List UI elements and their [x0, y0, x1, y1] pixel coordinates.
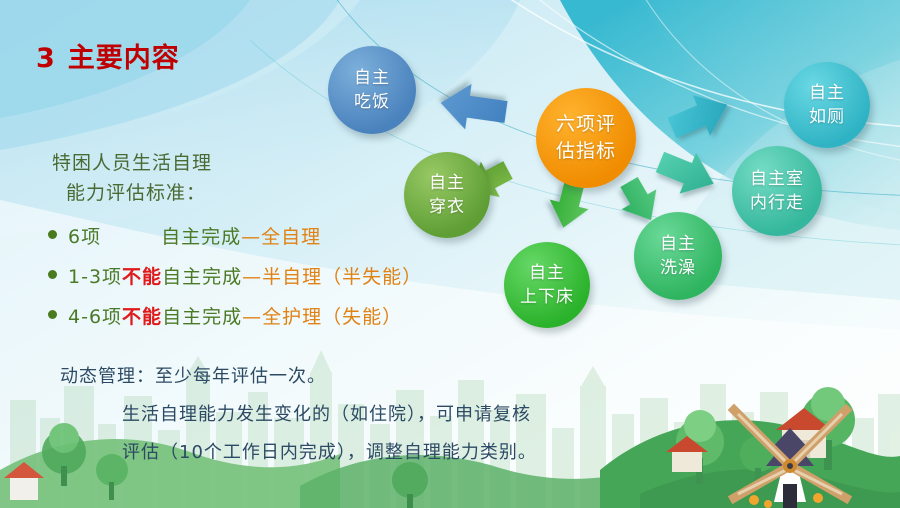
- arrow-to-walking-icon: [652, 142, 722, 205]
- node-bathing[interactable]: 自主 洗澡: [634, 212, 722, 300]
- node-toilet-line-1: 自主: [809, 81, 845, 105]
- node-dressing[interactable]: 自主 穿衣: [404, 152, 490, 238]
- arrow-to-toilet-icon: [663, 84, 735, 148]
- node-bed-line-2: 上下床: [520, 285, 574, 309]
- node-walking[interactable]: 自主室 内行走: [732, 146, 822, 236]
- arrow-to-bed-icon: [544, 180, 593, 232]
- slide-canvas: 3主要内容 特困人员生活自理 能力评估标准： 6项 自主完成 —全自理 1-3项…: [0, 0, 900, 508]
- center-line-2: 估指标: [556, 138, 616, 165]
- node-toilet-line-2: 如厕: [809, 105, 845, 129]
- node-bathing-line-2: 洗澡: [660, 256, 696, 280]
- diagram-arrows: [0, 0, 900, 508]
- center-line-1: 六项评: [556, 111, 616, 138]
- node-eating[interactable]: 自主 吃饭: [328, 46, 416, 134]
- node-eating-line-1: 自主: [354, 66, 390, 90]
- node-center-six-indicators[interactable]: 六项评 估指标: [536, 88, 636, 188]
- node-bed[interactable]: 自主 上下床: [504, 242, 590, 328]
- node-bed-line-1: 自主: [529, 261, 565, 285]
- node-toilet[interactable]: 自主 如厕: [784, 62, 870, 148]
- node-dressing-line-2: 穿衣: [429, 195, 465, 219]
- node-dressing-line-1: 自主: [429, 171, 465, 195]
- arrow-to-eating-icon: [437, 80, 509, 135]
- node-eating-line-2: 吃饭: [354, 90, 390, 114]
- node-walking-line-1: 自主室: [750, 167, 804, 191]
- node-walking-line-2: 内行走: [750, 191, 804, 215]
- node-bathing-line-1: 自主: [660, 232, 696, 256]
